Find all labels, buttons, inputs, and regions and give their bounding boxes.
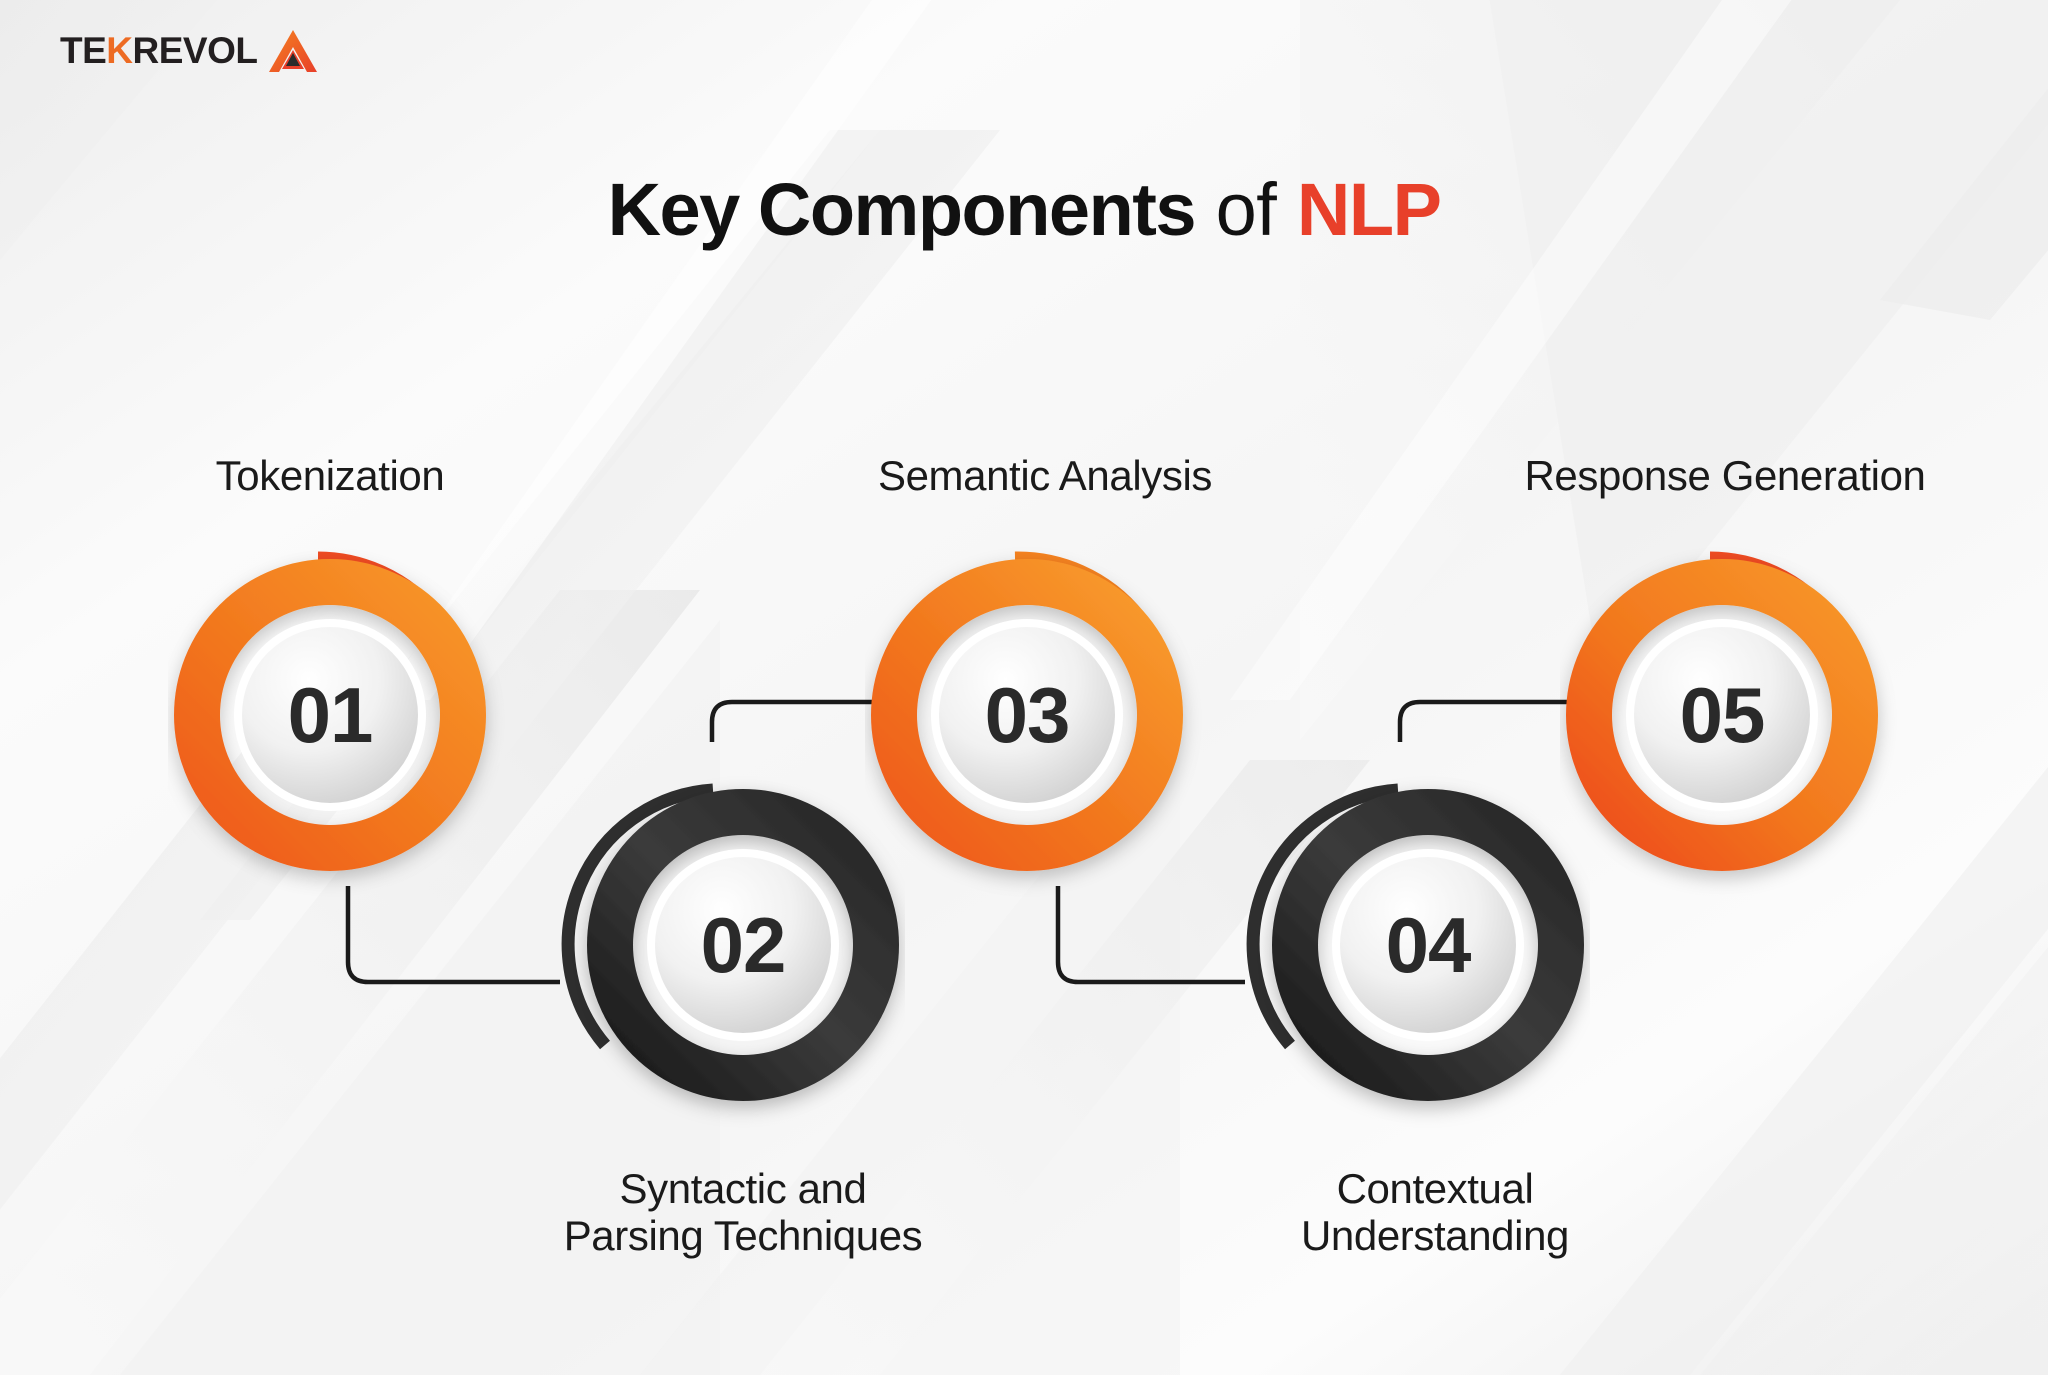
step-node-5[interactable]: 05 [1560,540,1920,900]
brand-wordmark: TEKREVOL [60,30,257,72]
title-part-3: NLP [1297,168,1441,251]
brand-logo[interactable]: TEKREVOL [60,28,319,74]
tekrevol-triangle-icon [267,28,319,74]
page-title: Key Components of NLP [0,173,2048,247]
step-5-label: Response Generation [1465,452,1985,499]
step-5-number: 05 [1542,535,1902,895]
infographic-canvas: TEKREVOL Key Components of NLP [0,0,2048,1375]
step-node-3[interactable]: 03 [865,540,1225,900]
step-node-4[interactable]: 04 [1230,770,1590,1130]
step-2-label: Syntactic and Parsing Techniques [483,1165,1003,1259]
step-3-number: 03 [847,535,1207,895]
brand-name-accent: K [106,30,132,71]
brand-name-part1: TE [60,30,106,71]
step-1-number: 01 [150,535,510,895]
step-3-label: Semantic Analysis [785,452,1305,499]
title-part-2: of [1216,168,1277,251]
step-node-1[interactable]: 01 [168,540,528,900]
title-part-1: Key Components [608,168,1196,251]
step-4-label: Contextual Understanding [1175,1165,1695,1259]
step-1-label: Tokenization [70,452,590,499]
brand-name-part2: REVOL [133,30,258,71]
